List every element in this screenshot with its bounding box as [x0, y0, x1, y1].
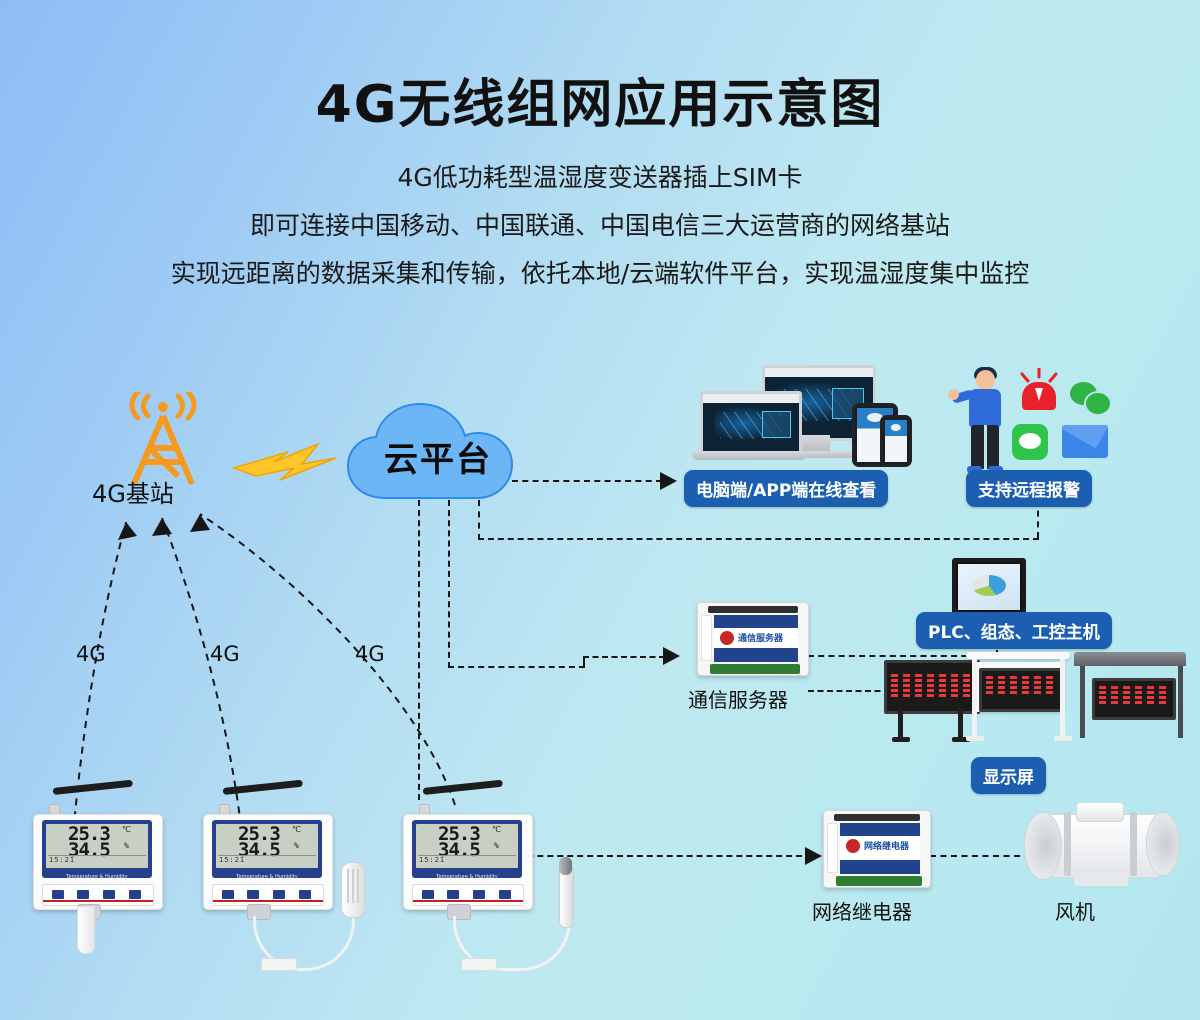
pavilion-roof [1074, 652, 1186, 666]
link-label-4g-2: 4G [210, 642, 240, 666]
person-legs [971, 425, 999, 469]
led-board-2-post-right [1060, 659, 1065, 737]
lightning-bolt-icon [232, 440, 342, 490]
link-cloud-server-v1 [448, 500, 450, 668]
sensor-3-button-panel[interactable] [412, 884, 524, 906]
sensor-2-button-4[interactable] [299, 890, 311, 899]
sensor-3-lcd-caption: Temperature & Humidity [412, 874, 522, 880]
sensor-1-temperature-unit: ℃ [122, 825, 131, 834]
smartphone-device [880, 415, 912, 467]
link-cloud-server-v3 [583, 656, 585, 668]
link-cloud-relay-v1 [418, 500, 420, 800]
person-head [976, 370, 995, 390]
led-board-2-foot-left [966, 736, 984, 741]
led-board-1-post-right [958, 708, 963, 738]
sensor-1-button-1[interactable] [52, 890, 64, 899]
link-relay-fan [930, 855, 1020, 857]
diagram-canvas: 4G无线组网应用示意图 4G低功耗型温湿度变送器插上SIM卡 即可连接中国移动、… [0, 0, 1200, 1020]
sensor-2-humidity-probe [341, 862, 365, 918]
sensor-1-button-3[interactable] [103, 890, 115, 899]
pc-app-device-cluster [700, 365, 900, 465]
fan-clamp-left [1064, 812, 1071, 876]
link-server-display-h [808, 690, 890, 692]
link-cloud-server-h1 [448, 666, 585, 668]
display-screen-label[interactable]: 显示屏 [971, 757, 1046, 794]
sensor-2-lcd: 25.3 ℃ 34.5 % 15:21 [216, 824, 318, 868]
sensor-2-button-panel[interactable] [212, 884, 324, 906]
sensor-1-button-4[interactable] [129, 890, 141, 899]
cloud-platform-label: 云平台 [344, 432, 532, 481]
laptop-screen [700, 391, 802, 457]
person-figure [962, 370, 1012, 480]
sensor-3-button-4[interactable] [499, 890, 511, 899]
sms-icon [1012, 424, 1048, 460]
led-display-board-2 [979, 668, 1063, 712]
arrowhead-pcapp [660, 472, 677, 490]
sensor-1-lcd-caption: Temperature & Humidity [42, 874, 152, 880]
sensor-1-humidity-unit: % [124, 841, 129, 850]
sensor-2-humidity-unit: % [294, 841, 299, 850]
subtitle-line-1: 4G低功耗型温湿度变送器插上SIM卡 [0, 158, 1200, 194]
led-board-2-crossbar [966, 652, 1070, 659]
sensor-2-button-3[interactable] [273, 890, 285, 899]
subtitle-line-3: 实现远距离的数据采集和传输，依托本地/云端软件平台，实现温湿度集中监控 [0, 254, 1200, 290]
sensor-1-clock: 15:21 [49, 856, 75, 864]
sensor-device-2: 25.3 ℃ 34.5 % 15:21 Temperature & Humidi… [203, 788, 393, 978]
sensor-3-cable-joint [461, 958, 497, 971]
remote-alarm-label[interactable]: 支持远程报警 [966, 470, 1092, 507]
page-title: 4G无线组网应用示意图 [0, 62, 1200, 137]
sensor-2-button-1[interactable] [222, 890, 234, 899]
led-board-1-post-left [898, 708, 903, 738]
fan-inlet [1024, 812, 1062, 880]
sensor-1-lcd: 25.3 ℃ 34.5 % 15:21 [46, 824, 148, 868]
wechat-icon [1070, 382, 1108, 415]
sensor-3-humidity-unit: % [494, 841, 499, 850]
fan-outlet [1146, 812, 1180, 876]
fan-label: 风机 [1055, 896, 1095, 925]
sensor-3-button-2[interactable] [447, 890, 459, 899]
fan-device [1018, 796, 1188, 901]
plc-label[interactable]: PLC、组态、工控主机 [916, 612, 1112, 649]
base-station-label: 4G基站 [92, 474, 174, 509]
link-cloud-alarm-h [478, 538, 1039, 540]
network-relay-label: 网络继电器 [812, 896, 912, 925]
sensor-1-internal-probe [77, 906, 95, 954]
sensor-3-temperature-unit: ℃ [492, 825, 501, 834]
link-label-4g-3: 4G [355, 642, 385, 666]
sensor-2-temperature-unit: ℃ [292, 825, 301, 834]
sensor-device-3: 25.3 ℃ 34.5 % 15:21 Temperature & Humidi… [403, 788, 613, 978]
subtitle-line-2: 即可连接中国移动、中国联通、中国电信三大运营商的网络基站 [0, 206, 1200, 242]
communication-server-label: 通信服务器 [688, 684, 788, 713]
fan-foot [1074, 874, 1128, 886]
sensor-2-clock: 15:21 [219, 856, 245, 864]
arrowhead-comm-server [663, 647, 680, 665]
sensor-3-clock: 15:21 [419, 856, 445, 864]
sensor-3-button-1[interactable] [422, 890, 434, 899]
comm-server-brand: 通信服务器 [738, 631, 783, 644]
led-board-1-foot-left [892, 737, 910, 742]
plc-monitor-icon [952, 558, 1026, 616]
led-board-2-foot-right [1054, 736, 1072, 741]
pavilion-post-left [1080, 666, 1085, 738]
network-relay-brand: 网络继电器 [864, 839, 909, 852]
pc-app-label[interactable]: 电脑端/APP端在线查看 [684, 470, 888, 507]
link-cloud-server-h2 [583, 656, 665, 658]
led-board-2-post-left [972, 659, 977, 737]
fan-junction-box [1076, 802, 1124, 822]
laptop-keyboard [692, 451, 806, 460]
sensor-1-button-2[interactable] [77, 890, 89, 899]
sensor-3-lcd: 25.3 ℃ 34.5 % 15:21 [416, 824, 518, 868]
sensor-device-1: 25.3 ℃ 34.5 % 15:21 Temperature & Humidi… [33, 788, 173, 978]
link-cloud-to-pcapp [512, 480, 662, 482]
sensor-2-lcd-caption: Temperature & Humidity [212, 874, 322, 880]
sensor-1-button-panel[interactable] [42, 884, 154, 906]
communication-server-device: 通信服务器 [697, 602, 809, 676]
fan-clamp-right [1130, 812, 1137, 876]
sensor-2-button-2[interactable] [247, 890, 259, 899]
person-hand [948, 389, 959, 400]
siren-rays-icon [1010, 368, 1068, 390]
sensor-3-button-3[interactable] [473, 890, 485, 899]
led-display-board-3 [1092, 678, 1176, 720]
network-relay-device: 网络继电器 [823, 810, 931, 888]
arrowhead-network-relay [805, 847, 822, 865]
sensor-2-cable-joint [261, 958, 297, 971]
link-label-4g-1: 4G [76, 642, 106, 666]
sensor-3-steel-probe [559, 866, 574, 928]
email-icon [1062, 425, 1108, 458]
led-display-board-1 [884, 660, 980, 714]
pavilion-post-right [1178, 666, 1183, 738]
